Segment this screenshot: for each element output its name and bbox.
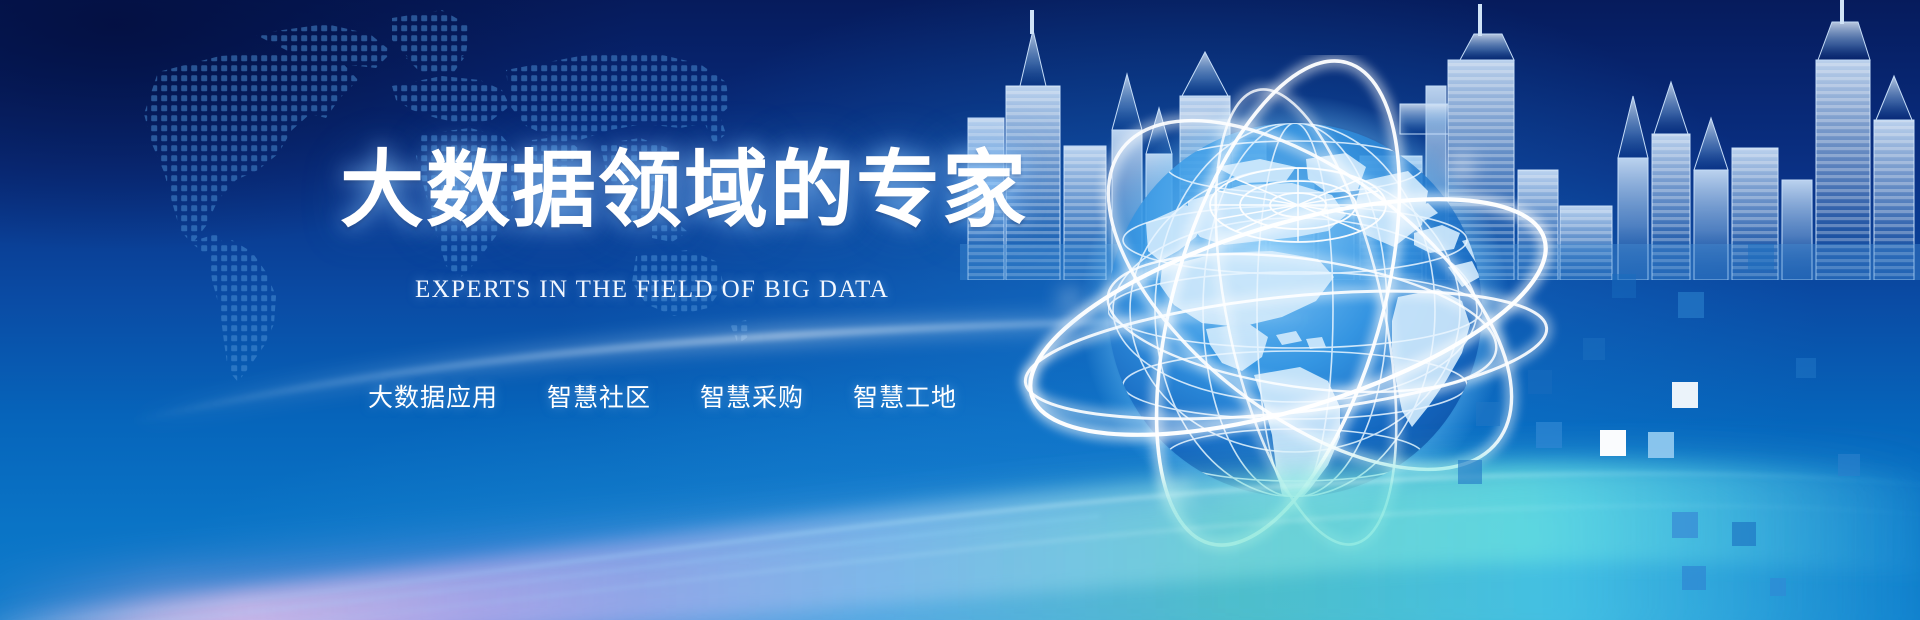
floating-squares-icon	[1440, 230, 1920, 570]
big-data-banner: 大数据领域的专家 EXPERTS IN THE FIELD OF BIG DAT…	[0, 0, 1920, 620]
nav-link-smart-community[interactable]: 智慧社区	[547, 378, 651, 414]
nav-link-smart-procurement[interactable]: 智慧采购	[700, 378, 804, 414]
page-subtitle: EXPERTS IN THE FIELD OF BIG DATA	[415, 276, 889, 304]
banner-nav: 大数据应用 智慧社区 智慧采购 智慧工地	[368, 378, 957, 414]
banner-content: 大数据领域的专家 EXPERTS IN THE FIELD OF BIG DAT…	[0, 0, 1100, 620]
nav-link-big-data-application[interactable]: 大数据应用	[368, 378, 498, 414]
page-title: 大数据领域的专家	[340, 148, 1028, 232]
nav-link-smart-construction-site[interactable]: 智慧工地	[853, 378, 957, 414]
city-skyline-icon	[960, 0, 1920, 280]
